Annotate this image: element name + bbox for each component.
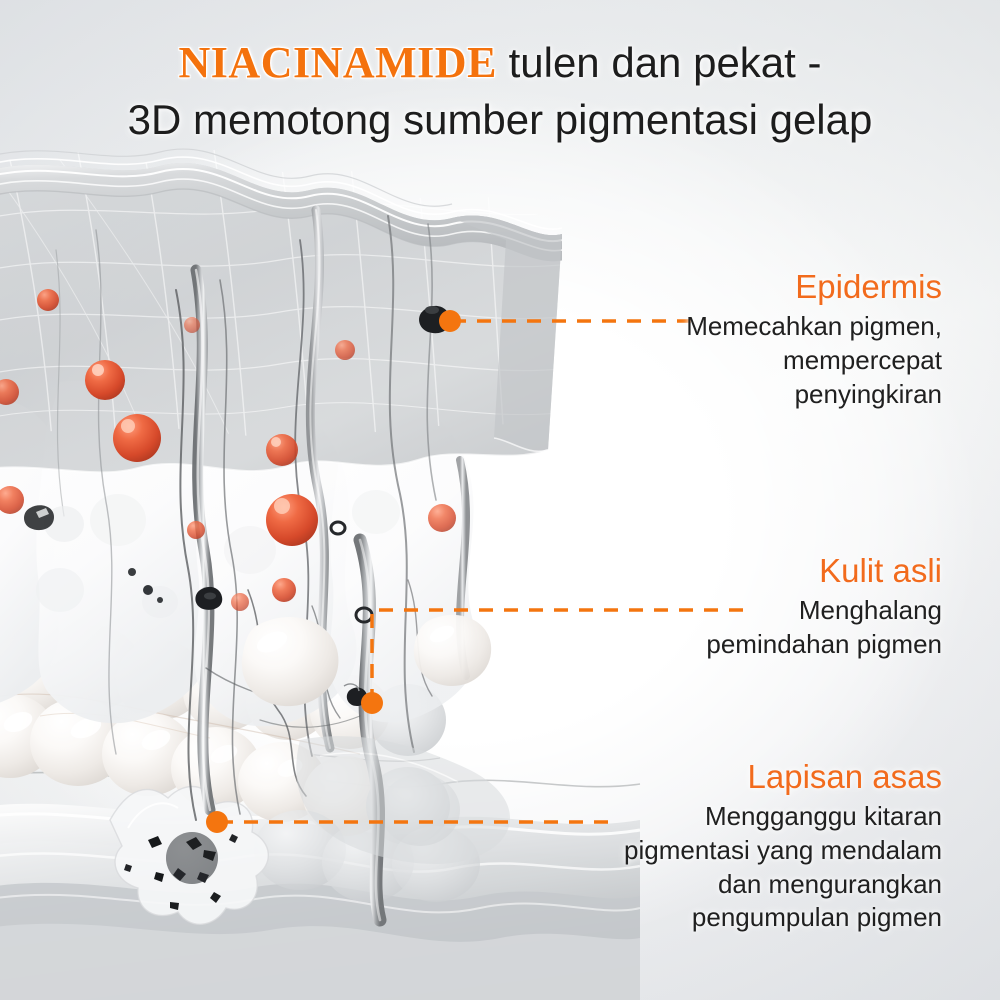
epidermis-sheet bbox=[0, 149, 570, 474]
callout-dermis: Kulit asli Menghalang pemindahan pigmen bbox=[706, 552, 942, 662]
callout-epidermis: Epidermis Memecahkan pigmen, mempercepat… bbox=[686, 268, 942, 411]
callout-basal-line-4: pengumpulan pigmen bbox=[624, 901, 942, 935]
callout-epidermis-line-3: penyingkiran bbox=[686, 378, 942, 412]
callout-dermis-heading: Kulit asli bbox=[706, 552, 942, 590]
callout-epidermis-body: Memecahkan pigmen, mempercepat penyingki… bbox=[686, 310, 942, 411]
marker-dot-basal bbox=[206, 811, 228, 833]
marker-dot-dermis bbox=[361, 692, 383, 714]
callout-epidermis-heading: Epidermis bbox=[686, 268, 942, 306]
callout-basal-line-2: pigmentasi yang mendalam bbox=[624, 834, 942, 868]
skin-cross-section-illustration bbox=[0, 120, 660, 1000]
callout-basal-line-3: dan mengurangkan bbox=[624, 868, 942, 902]
callout-dermis-line-2: pemindahan pigmen bbox=[706, 628, 942, 662]
callout-basal-line-1: Mengganggu kitaran bbox=[624, 800, 942, 834]
callout-epidermis-line-2: mempercepat bbox=[686, 344, 942, 378]
callout-basal-heading: Lapisan asas bbox=[624, 758, 942, 796]
marker-dot-epidermis bbox=[439, 310, 461, 332]
callout-epidermis-line-1: Memecahkan pigmen, bbox=[686, 310, 942, 344]
callout-dermis-line-1: Menghalang bbox=[706, 594, 942, 628]
callout-basal-body: Mengganggu kitaran pigmentasi yang menda… bbox=[624, 800, 942, 935]
callout-basal: Lapisan asas Mengganggu kitaran pigmenta… bbox=[624, 758, 942, 935]
callout-dermis-body: Menghalang pemindahan pigmen bbox=[706, 594, 942, 662]
infographic-poster: NIACINAMIDE tulen dan pekat - 3D memoton… bbox=[0, 0, 1000, 1000]
